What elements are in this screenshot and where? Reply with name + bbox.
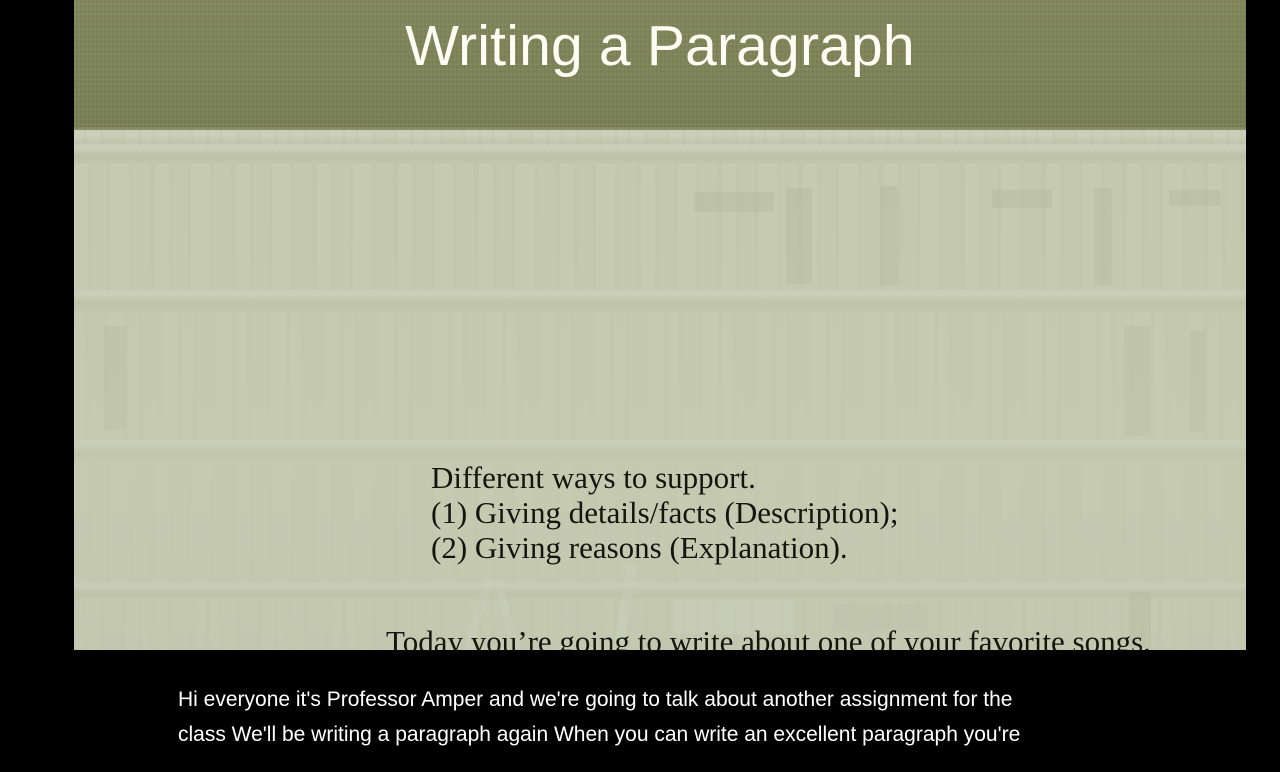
support-item-2: (2) Giving reasons (Explanation). bbox=[431, 530, 898, 565]
photo-tint-overlay bbox=[74, 130, 1246, 650]
video-player-stage: Writing a Paragraph bbox=[0, 0, 1280, 772]
caption-line-2: class We'll be writing a paragraph again… bbox=[178, 717, 1113, 752]
presentation-slide: Writing a Paragraph bbox=[74, 0, 1246, 650]
support-heading: Different ways to support. bbox=[431, 460, 898, 495]
page-title: Writing a Paragraph bbox=[74, 8, 1246, 84]
slide-background-photo: Different ways to support. (1) Giving de… bbox=[74, 130, 1246, 650]
support-text-block: Different ways to support. (1) Giving de… bbox=[431, 460, 898, 565]
transcript-caption: Hi everyone it's Professor Amper and we'… bbox=[178, 682, 1113, 752]
slide-title-band: Writing a Paragraph bbox=[74, 0, 1246, 130]
assignment-line-1: Today you’re going to write about one of… bbox=[386, 624, 1151, 650]
caption-line-1: Hi everyone it's Professor Amper and we'… bbox=[178, 682, 1113, 717]
support-item-1: (1) Giving details/facts (Description); bbox=[431, 495, 898, 530]
assignment-text-block: Today you’re going to write about one of… bbox=[386, 624, 1151, 650]
